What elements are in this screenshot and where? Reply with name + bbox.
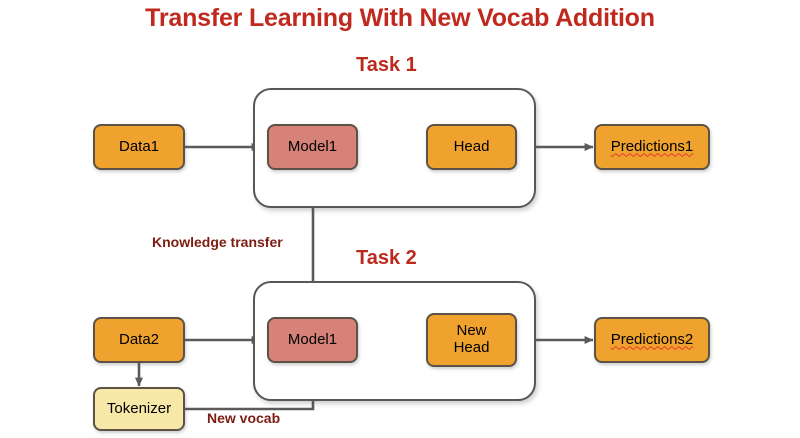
node-model1-task2-label: Model1: [288, 332, 337, 349]
node-data1-label: Data1: [119, 139, 159, 156]
task1-label: Task 1: [356, 54, 417, 77]
node-tokenizer-label: Tokenizer: [107, 401, 171, 418]
node-model1-task1-label: Model1: [288, 139, 337, 156]
node-model1-task1[interactable]: Model1: [267, 124, 358, 170]
node-predictions1-label: Predictions1: [611, 139, 694, 156]
task2-label: Task 2: [356, 247, 417, 270]
new-vocab-label: New vocab: [207, 410, 280, 426]
node-tokenizer[interactable]: Tokenizer: [93, 387, 185, 431]
node-data2[interactable]: Data2: [93, 317, 185, 363]
diagram-canvas: Transfer Learning With New Vocab Additio…: [0, 0, 800, 438]
node-new-head-label-line2: Head: [454, 340, 490, 357]
knowledge-transfer-label: Knowledge transfer: [152, 234, 283, 250]
node-head-label: Head: [454, 139, 490, 156]
node-predictions2[interactable]: Predictions2: [594, 317, 710, 363]
node-model1-task2[interactable]: Model1: [267, 317, 358, 363]
node-head[interactable]: Head: [426, 124, 517, 170]
node-new-head[interactable]: New Head: [426, 313, 517, 367]
node-predictions1[interactable]: Predictions1: [594, 124, 710, 170]
node-data2-label: Data2: [119, 332, 159, 349]
node-predictions2-label: Predictions2: [611, 332, 694, 349]
node-data1[interactable]: Data1: [93, 124, 185, 170]
node-new-head-label-line1: New: [456, 323, 486, 340]
